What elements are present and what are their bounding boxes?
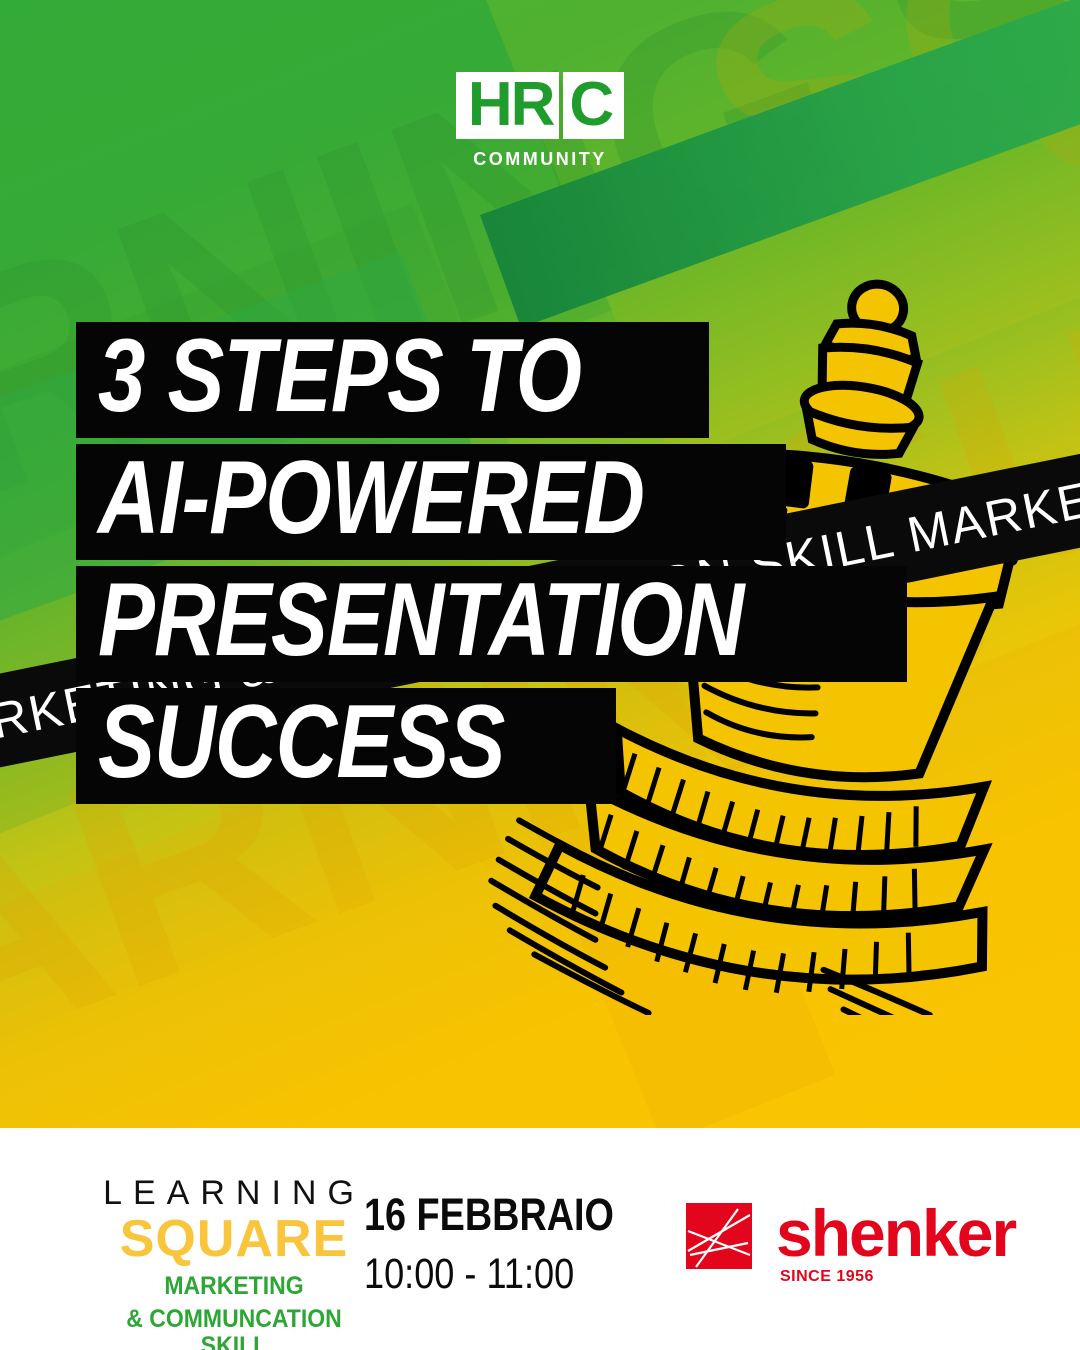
title-line-text: AI-POWERED <box>98 446 644 550</box>
event-date: 16 FEBBRAIO <box>364 1192 614 1237</box>
event-schedule: 16 FEBBRAIO 10:00 - 11:00 <box>364 1192 662 1296</box>
hrc-logo-box-right: C <box>563 72 624 139</box>
hrc-logo-subtitle: COMMUNITY <box>0 149 1080 170</box>
shenker-logo: shenker SINCE 1956 <box>686 1203 1015 1286</box>
title-line: PRESENTATION <box>76 566 907 682</box>
title-line-text: SUCCESS <box>98 690 505 794</box>
shenker-name: shenker <box>776 1203 1015 1264</box>
title-line: AI-POWERED <box>76 444 786 560</box>
title-line-text: PRESENTATION <box>98 568 744 672</box>
title-line: 3 STEPS TO <box>76 322 709 438</box>
hrc-logo-letter-c: C <box>569 76 612 135</box>
title-line-text: 3 STEPS TO <box>98 324 581 428</box>
learning-square-tagline-line1: MARKETING <box>96 1273 372 1300</box>
hrc-logo-box-left: HR <box>456 72 560 139</box>
hrc-logo: HR C COMMUNITY <box>0 72 1080 170</box>
learning-square-word-learning: LEARNING <box>84 1176 384 1210</box>
title-line: SUCCESS <box>76 688 616 804</box>
hero-section: RNING SA SQU ARNING SU <box>0 0 1080 1128</box>
learning-square-word-square: SQUARE <box>84 1212 384 1267</box>
learning-square-tagline-line2: & COMMUNCATION SKILL <box>96 1306 372 1350</box>
poster: RNING SA SQU ARNING SU <box>0 0 1080 1350</box>
shenker-square-icon <box>686 1203 752 1269</box>
event-time: 10:00 - 11:00 <box>364 1253 614 1296</box>
hrc-logo-letters-hr: HR <box>468 76 554 135</box>
shenker-since: SINCE 1956 <box>780 1268 1015 1286</box>
shenker-wordmark: shenker SINCE 1956 <box>776 1203 1015 1286</box>
learning-square-logo: LEARNING SQUARE MARKETING & COMMUNCATION… <box>84 1176 384 1350</box>
hrc-logo-icon: HR C <box>456 72 624 139</box>
page-title: 3 STEPS TO AI-POWERED PRESENTATION SUCCE… <box>76 322 907 810</box>
